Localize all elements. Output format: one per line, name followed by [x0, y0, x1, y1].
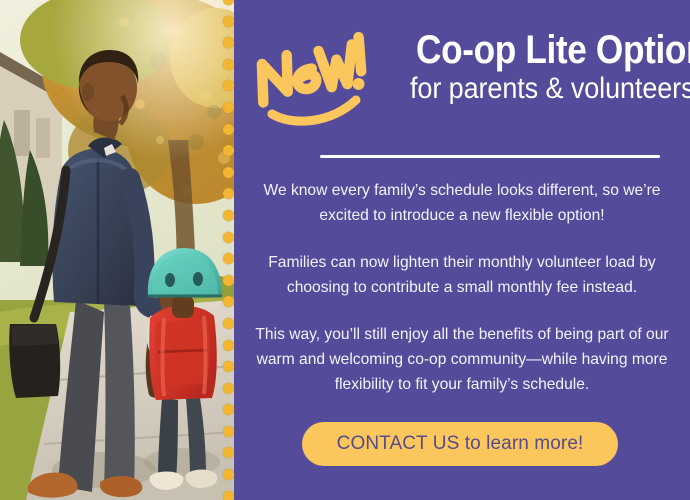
- hero-photo: [0, 0, 234, 500]
- contact-us-button-label: CONTACT US to learn more!: [337, 433, 584, 455]
- body-paragraph-3: This way, you’ll still enjoy all the ben…: [240, 322, 684, 397]
- headline-block: Co-op Lite Option for parents & voluntee…: [234, 28, 690, 140]
- headline-text-group: Co-op Lite Option for parents & voluntee…: [380, 28, 680, 106]
- body-paragraph-1: We know every family’s schedule looks di…: [240, 178, 684, 228]
- body-paragraph-2: Families can now lighten their monthly v…: [240, 250, 684, 300]
- horizontal-divider: [320, 155, 660, 158]
- new-script-lettering: [252, 34, 380, 126]
- promo-flyer: Co-op Lite Option for parents & voluntee…: [0, 0, 690, 500]
- new-badge: [252, 34, 380, 126]
- body-copy: We know every family’s schedule looks di…: [240, 178, 684, 397]
- page-title: Co-op Lite Option: [416, 28, 680, 72]
- hero-photo-illustration: [0, 0, 234, 500]
- content-panel: Co-op Lite Option for parents & voluntee…: [234, 0, 690, 500]
- contact-us-button[interactable]: CONTACT US to learn more!: [302, 422, 618, 466]
- page-subtitle: for parents & volunteers: [410, 72, 680, 106]
